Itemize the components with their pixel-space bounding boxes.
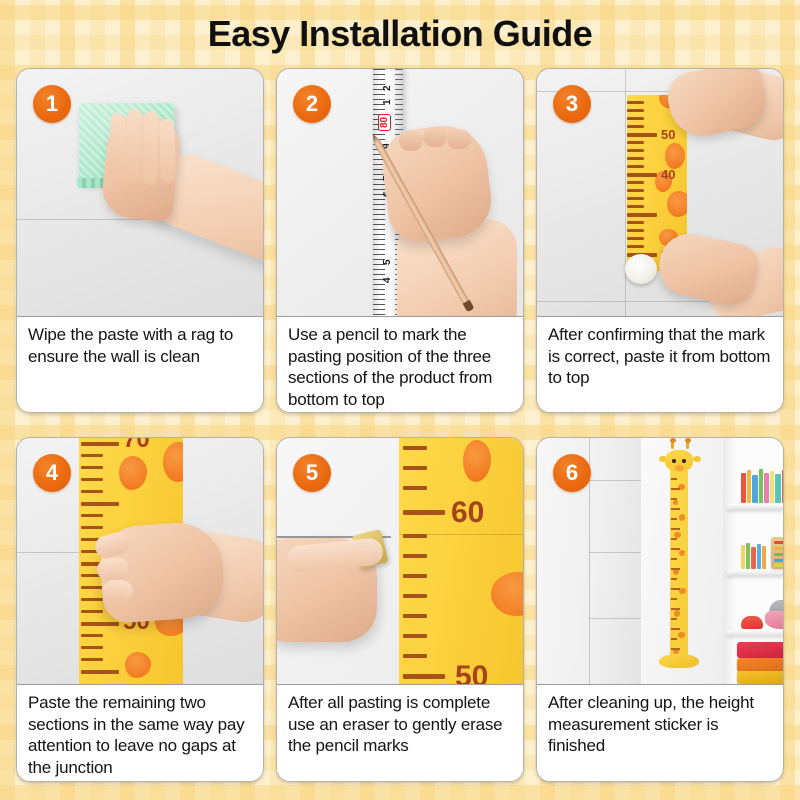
ruler-number: 40	[661, 167, 675, 182]
step-card-5[interactable]: 60 50 5 After all pasting is complete us…	[276, 437, 524, 782]
step-5-photo: 60 50 5	[277, 438, 523, 685]
finger	[142, 111, 158, 185]
step-card-3[interactable]: 50 40 30 3 After confirming that the mar…	[536, 68, 784, 413]
toy-car	[741, 616, 763, 629]
book	[746, 543, 750, 569]
step-caption-1: Wipe the paste with a rag to ensure the …	[17, 317, 263, 412]
step-badge-3: 3	[553, 85, 591, 123]
installation-guide-page: Easy Installation Guide 1 Wipe the paste…	[0, 0, 800, 800]
step-card-2[interactable]: 2 1 80 9 8 7 6 5 4	[276, 68, 524, 413]
book	[775, 474, 781, 503]
giraffe-spot	[125, 652, 151, 678]
giraffe-head	[665, 450, 693, 472]
giraffe-horn	[686, 441, 689, 449]
step-card-4[interactable]: 70 50 4 Paste the remaining two sections…	[16, 437, 264, 782]
tape-number: 4	[382, 277, 393, 283]
giraffe-spot	[667, 191, 687, 217]
tape-number: 5	[382, 259, 393, 265]
ruler-number: 70	[123, 438, 150, 454]
step-badge-2: 2	[293, 85, 331, 123]
finger	[159, 119, 176, 183]
knuckle	[399, 131, 423, 151]
storage-bin	[737, 642, 783, 658]
giraffe-body	[670, 470, 688, 660]
book	[762, 546, 766, 569]
step-caption-3: After confirming that the mark is correc…	[537, 317, 783, 412]
backing-paper	[625, 254, 657, 284]
bookshelf	[723, 438, 783, 684]
book	[751, 547, 756, 569]
wall-seam	[625, 69, 626, 316]
step-badge-4: 4	[33, 454, 71, 492]
step-card-1[interactable]: 1 Wipe the paste with a rag to ensure th…	[16, 68, 264, 413]
book	[759, 469, 763, 503]
step-badge-6: 6	[553, 454, 591, 492]
shelf-board	[727, 504, 783, 510]
fingertip	[102, 579, 133, 603]
book	[741, 545, 745, 569]
step-6-photo: 6	[537, 438, 783, 685]
book	[764, 473, 769, 503]
book	[752, 475, 758, 503]
step-caption-4: Paste the remaining two sections in the …	[17, 685, 263, 782]
storage-bin	[737, 671, 783, 684]
shelf-board	[727, 630, 783, 636]
giraffe-spot	[665, 143, 685, 169]
height-ruler-strip: 60 50	[399, 438, 523, 685]
book	[741, 473, 746, 503]
step-badge-5: 5	[293, 454, 331, 492]
steps-grid: 1 Wipe the paste with a rag to ensure th…	[16, 68, 784, 782]
abacus	[771, 537, 783, 569]
ruler-number: 50	[661, 127, 675, 142]
book	[782, 470, 783, 503]
ruler-number: 60	[451, 496, 484, 530]
giraffe-horn	[671, 441, 674, 449]
book	[757, 544, 761, 569]
step-4-photo: 70 50 4	[17, 438, 263, 685]
step-caption-5: After all pasting is complete use an era…	[277, 685, 523, 781]
step-caption-6: After cleaning up, the height measuremen…	[537, 685, 783, 781]
step-caption-2: Use a pencil to mark the pasting positio…	[277, 317, 523, 413]
book	[770, 471, 774, 503]
shelf-side-panel	[723, 438, 736, 684]
step-2-photo: 2 1 80 9 8 7 6 5 4	[277, 69, 523, 317]
knuckle	[447, 129, 471, 149]
book	[747, 470, 751, 503]
giraffe-spot	[463, 440, 491, 482]
step-card-6[interactable]: 6 After cleaning up, the height measurem…	[536, 437, 784, 782]
giraffe-spot	[163, 442, 183, 482]
step-badge-1: 1	[33, 85, 71, 123]
ruler-number: 50	[455, 660, 488, 685]
tape-number: 2	[382, 85, 393, 91]
shelf-board	[727, 570, 783, 576]
tape-number: 1	[382, 99, 393, 105]
plush-dress	[765, 611, 783, 629]
tape-number-highlight: 80	[378, 114, 391, 131]
giraffe-foot	[659, 654, 699, 668]
giraffe-spot	[491, 572, 523, 616]
giraffe-spot	[119, 456, 147, 490]
giraffe-ear	[693, 456, 701, 462]
knuckle	[423, 127, 447, 147]
page-title: Easy Installation Guide	[0, 13, 800, 55]
storage-bin	[737, 658, 783, 672]
step-1-photo: 1	[17, 69, 263, 317]
step-3-photo: 50 40 30 3	[537, 69, 783, 317]
